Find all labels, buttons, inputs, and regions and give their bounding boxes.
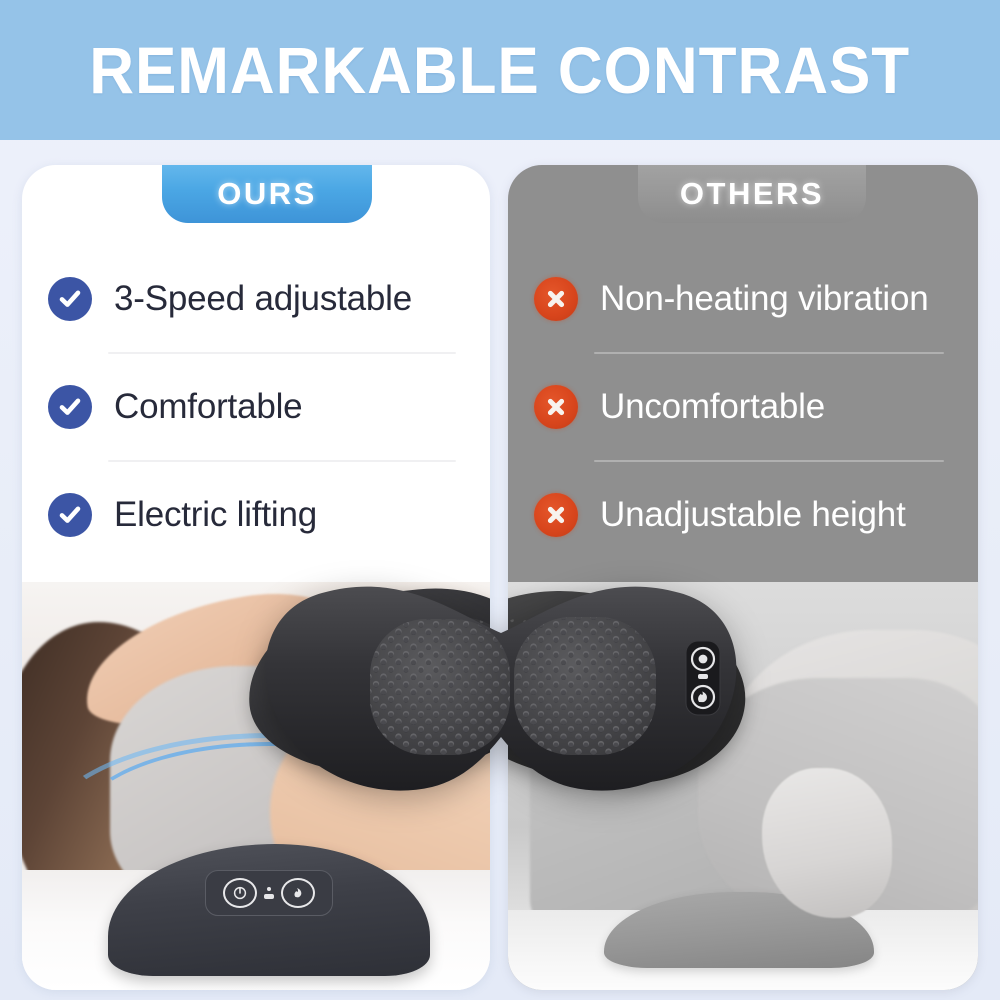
list-item: Uncomfortable <box>534 369 952 445</box>
feature-label: Comfortable <box>114 387 302 427</box>
x-circle-icon <box>534 277 578 321</box>
tab-others[interactable]: OTHERS <box>638 165 866 223</box>
device-control-panel <box>686 641 720 715</box>
check-circle-icon <box>48 493 92 537</box>
check-circle-icon <box>48 277 92 321</box>
list-divider <box>594 460 944 462</box>
heat-icon <box>281 878 315 908</box>
header-banner: REMARKABLE CONTRAST <box>0 0 1000 140</box>
ours-feature-list: 3-Speed adjustable Comfortable <box>22 261 490 553</box>
power-icon <box>223 878 257 908</box>
tab-ours-label: OURS <box>217 176 317 212</box>
list-item: Non-heating vibration <box>534 261 952 337</box>
others-feature-list: Non-heating vibration Uncomfortable <box>508 261 978 553</box>
feature-label: Unadjustable height <box>600 495 906 535</box>
x-circle-icon <box>534 385 578 429</box>
hero-massager-device <box>252 575 750 797</box>
infographic-page: REMARKABLE CONTRAST OURS 3-Speed adjusta… <box>0 0 1000 1000</box>
tab-others-label: OTHERS <box>680 176 824 212</box>
list-item: Comfortable <box>48 369 464 445</box>
page-title: REMARKABLE CONTRAST <box>90 37 911 103</box>
feature-label: Non-heating vibration <box>600 279 929 319</box>
list-item: Electric lifting <box>48 477 464 553</box>
feature-label: Uncomfortable <box>600 387 825 427</box>
tab-ours[interactable]: OURS <box>162 165 372 223</box>
list-divider <box>108 352 456 354</box>
list-item: 3-Speed adjustable <box>48 261 464 337</box>
check-circle-icon <box>48 385 92 429</box>
list-divider <box>594 352 944 354</box>
pillow-control-panel <box>205 870 333 916</box>
comparison-section: OURS 3-Speed adjustable <box>0 140 1000 1000</box>
feature-label: Electric lifting <box>114 495 317 535</box>
x-circle-icon <box>534 493 578 537</box>
list-divider <box>108 460 456 462</box>
feature-label: 3-Speed adjustable <box>114 279 412 319</box>
led-indicator <box>264 887 274 899</box>
list-item: Unadjustable height <box>534 477 952 553</box>
